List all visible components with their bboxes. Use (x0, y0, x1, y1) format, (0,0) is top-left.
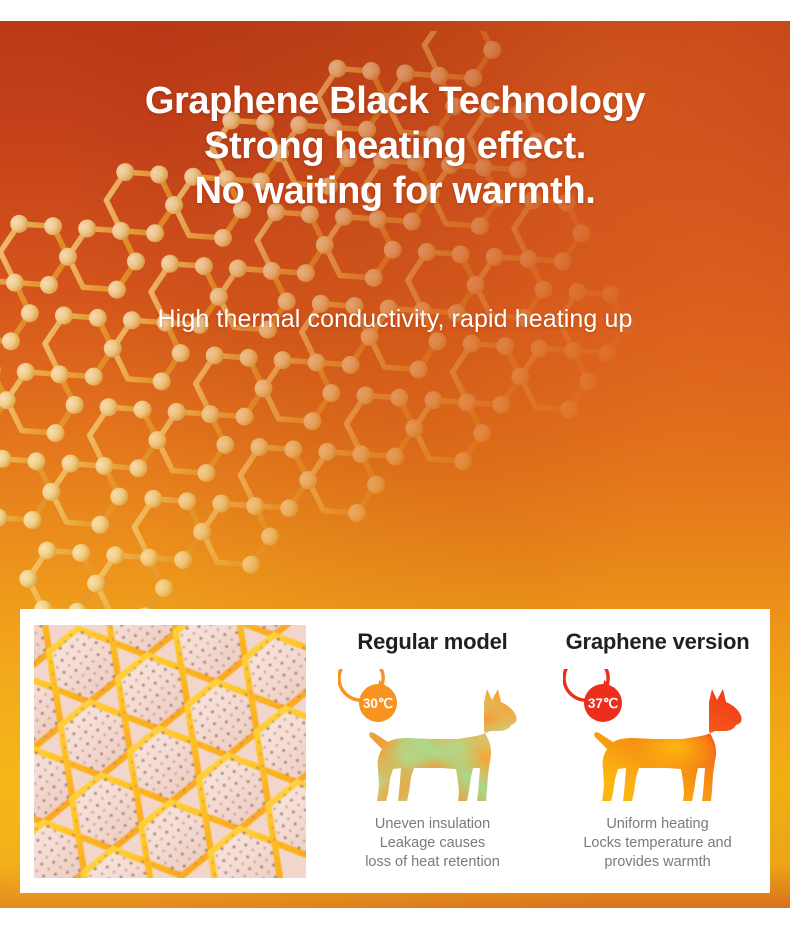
headline-line-2: Strong heating effect. (0, 124, 790, 169)
caption-line-1: Uneven insulation (365, 815, 500, 834)
dog-illustration-regular: 30℃ (338, 669, 528, 809)
comparison-regular-model: Regular model (320, 629, 545, 893)
caption-line-3: provides warmth (583, 853, 731, 872)
dog-illustration-graphene: 37℃ (563, 669, 753, 809)
marketing-banner-page: Graphene Black Technology Strong heating… (0, 0, 790, 939)
headline-line-3: No waiting for warmth. (0, 169, 790, 214)
hero-subheadline: High thermal conductivity, rapid heating… (0, 305, 790, 334)
caption-line-3: loss of heat retention (365, 853, 500, 872)
comparison-card: Regular model (20, 609, 770, 893)
comparison-title-regular: Regular model (357, 629, 507, 655)
comparison-caption-regular: Uneven insulation Leakage causes loss of… (365, 815, 500, 872)
temperature-badge-37: 37℃ (564, 669, 622, 722)
headline-line-1: Graphene Black Technology (0, 79, 790, 124)
hero-banner: Graphene Black Technology Strong heating… (0, 21, 790, 908)
caption-line-2: Leakage causes (365, 834, 500, 853)
svg-text:37℃: 37℃ (587, 696, 618, 711)
temperature-badge-30: 30℃ (339, 669, 397, 722)
comparison-graphene-version: Graphene version (545, 629, 770, 893)
bottom-white-margin (0, 908, 790, 939)
comparison-columns: Regular model (320, 609, 770, 893)
top-white-margin (0, 0, 790, 21)
caption-line-2: Locks temperature and (583, 834, 731, 853)
comparison-title-graphene: Graphene version (566, 629, 750, 655)
svg-text:30℃: 30℃ (362, 696, 393, 711)
comparison-caption-graphene: Uniform heating Locks temperature and pr… (583, 815, 731, 872)
caption-line-1: Uniform heating (583, 815, 731, 834)
product-photo-column (20, 609, 320, 893)
honeycomb-fabric-photo (34, 625, 306, 878)
hero-headline: Graphene Black Technology Strong heating… (0, 79, 790, 213)
